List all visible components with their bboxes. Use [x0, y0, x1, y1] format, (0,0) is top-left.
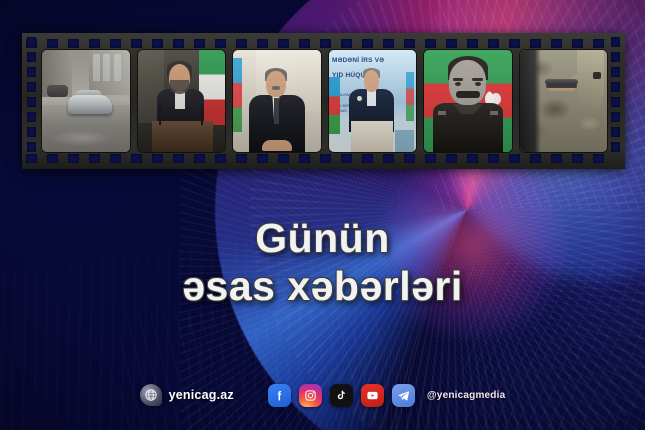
film-perforation	[194, 154, 205, 163]
film-perforation	[89, 39, 100, 48]
promo-card: 01 02	[0, 0, 645, 430]
frame04-shirt	[367, 90, 376, 106]
film-perforation	[341, 39, 352, 48]
film-perforation	[110, 39, 121, 48]
film-perforation	[173, 39, 184, 48]
film-perforation	[611, 97, 620, 107]
film-perforation	[152, 154, 163, 163]
film-perforation	[173, 154, 184, 163]
film-perforation	[572, 39, 583, 48]
film-perforation	[236, 154, 247, 163]
film-perforation	[383, 39, 394, 48]
film-perforation	[611, 142, 620, 152]
film-frame-06[interactable]: 06	[520, 50, 608, 152]
film-perforation	[68, 39, 79, 48]
film-perforation	[572, 154, 583, 163]
film-perforation	[27, 97, 36, 107]
film-perforation	[611, 127, 620, 137]
film-perforation	[320, 154, 331, 163]
frame06-arm	[577, 50, 603, 113]
frame04-banner-line1: MƏDƏNİ İRS VƏ	[332, 57, 384, 64]
frame01-dark-car	[47, 85, 68, 97]
frame05-eye	[475, 82, 481, 86]
frame04-screen	[395, 130, 414, 152]
frame01-silver-car	[68, 95, 112, 114]
film-perforation	[27, 52, 36, 62]
film-frame-03[interactable]: 03	[233, 50, 321, 152]
frame03-tie	[274, 98, 279, 125]
tiktok-icon[interactable]	[330, 384, 353, 407]
film-perforation	[467, 154, 478, 163]
film-perforation	[551, 39, 562, 48]
film-frames: 01 02	[42, 50, 607, 152]
film-perforation	[362, 39, 373, 48]
frame02-microphone	[201, 105, 203, 125]
film-perforation	[215, 154, 226, 163]
film-perforation	[110, 154, 121, 163]
frame06-dark-figure	[520, 50, 541, 152]
frame03-moustache	[272, 86, 281, 90]
frame04-lectern	[351, 121, 393, 152]
frame04-azerbaijan-flag-left	[329, 77, 340, 134]
film-perforation	[131, 154, 142, 163]
film-perforation	[152, 39, 163, 48]
film-perforations-right	[609, 37, 622, 165]
film-perforation	[278, 39, 289, 48]
headline-line-2: əsas xəbərləri	[0, 266, 645, 308]
frame04-azerbaijan-flag-right	[406, 72, 414, 121]
frame01-window	[93, 54, 100, 81]
frame06-wristwatch	[593, 72, 601, 78]
telegram-icon[interactable]	[392, 384, 415, 407]
film-perforation	[404, 39, 415, 48]
footer-bar: yenicag.az	[0, 380, 645, 410]
frame03-face	[266, 71, 285, 97]
film-perforation	[299, 154, 310, 163]
film-perforation	[362, 154, 373, 163]
frame05-shoulder-tab	[490, 111, 498, 115]
film-perforation	[425, 154, 436, 163]
frame03-hands	[262, 140, 292, 151]
film-perforation	[299, 39, 310, 48]
film-perforation	[27, 37, 36, 47]
film-perforation	[89, 154, 100, 163]
film-perforation	[509, 39, 520, 48]
frame06-handcuffs	[545, 79, 578, 85]
film-perforation	[446, 154, 457, 163]
film-perforation	[257, 154, 268, 163]
film-perforation	[131, 39, 142, 48]
film-perforation	[215, 39, 226, 48]
film-perforation	[27, 112, 36, 122]
headline: Günün əsas xəbərləri	[0, 218, 645, 308]
film-perforation	[47, 154, 58, 163]
frame05-moustache	[456, 91, 481, 98]
film-frame-01[interactable]: 01	[42, 50, 130, 152]
film-perforation	[488, 154, 499, 163]
globe-icon	[140, 384, 162, 406]
film-perforation	[383, 154, 394, 163]
frame04-lapel-pin	[357, 96, 361, 101]
film-perforation	[404, 154, 415, 163]
film-perforation	[488, 39, 499, 48]
film-perforation	[551, 154, 562, 163]
frame01-wet-reflection	[51, 130, 112, 146]
film-perforation	[27, 82, 36, 92]
film-perforation	[446, 39, 457, 48]
film-frame-05[interactable]: 05	[424, 50, 512, 152]
brand-name: yenicag.az	[169, 388, 234, 402]
social-links	[268, 384, 415, 407]
frame03-azerbaijan-flag	[233, 58, 242, 131]
film-perforation	[509, 154, 520, 163]
film-perforations-bottom	[22, 152, 625, 165]
film-perforation	[593, 154, 604, 163]
frame05-eyebrow	[453, 78, 464, 81]
frame04-face	[364, 70, 380, 91]
film-perforation	[611, 82, 620, 92]
film-perforation	[320, 39, 331, 48]
youtube-icon[interactable]	[361, 384, 384, 407]
film-strip: 01 02	[22, 33, 625, 169]
film-perforation	[278, 154, 289, 163]
facebook-icon[interactable]	[268, 384, 291, 407]
frame02-microphone	[159, 105, 161, 125]
frame01-window	[114, 54, 121, 81]
frame05-eyebrow	[472, 78, 483, 81]
social-handle: @yenicagmedia	[427, 390, 506, 401]
film-perforation	[194, 39, 205, 48]
film-perforation	[27, 67, 36, 77]
film-perforation	[530, 154, 541, 163]
background-grid-bottom-left	[120, 310, 380, 430]
film-perforation	[593, 39, 604, 48]
frame01-window	[103, 54, 110, 81]
film-perforation	[236, 39, 247, 48]
film-perforation	[425, 39, 436, 48]
frame02-beard	[170, 80, 189, 94]
film-perforations-top	[22, 37, 625, 50]
brand-block[interactable]: yenicag.az	[140, 384, 234, 406]
film-perforation	[611, 112, 620, 122]
frame05-eye	[455, 82, 461, 86]
film-perforation	[467, 39, 478, 48]
film-frame-04[interactable]: MƏDƏNİ İRS VƏ YID HÜQUQU IN SALINMIŞLASI…	[329, 50, 417, 152]
instagram-icon[interactable]	[299, 384, 322, 407]
film-perforation	[257, 39, 268, 48]
frame05-shoulder-tab	[438, 111, 446, 115]
film-perforation	[611, 67, 620, 77]
film-perforation	[611, 37, 620, 47]
film-perforation	[47, 39, 58, 48]
film-frame-02[interactable]: 02	[138, 50, 226, 152]
frame02-podium	[152, 121, 213, 152]
film-perforation	[611, 52, 620, 62]
film-perforation	[68, 154, 79, 163]
film-perforation	[530, 39, 541, 48]
film-perforation	[341, 154, 352, 163]
film-perforation	[27, 142, 36, 152]
headline-line-1: Günün	[0, 218, 645, 260]
film-perforations-left	[25, 37, 38, 165]
film-perforation	[27, 127, 36, 137]
